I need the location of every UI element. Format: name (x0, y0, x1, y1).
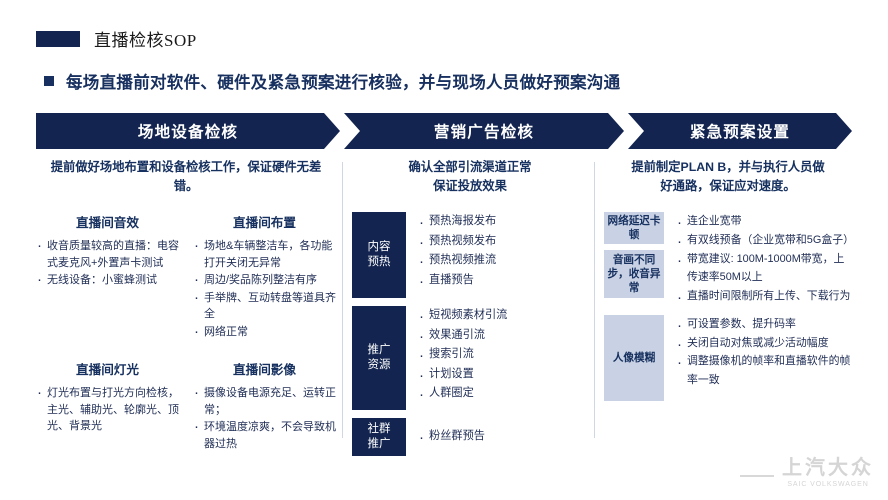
column-marketing-ads: 确认全部引流渠道正常 保证投放效果 内容 预热 预热海报发布 预热视频发布 预热… (352, 158, 588, 458)
content-columns: 提前做好场地布置和设备检核工作，保证硬件无差错。 直播间音效 收音质量较高的直播… (36, 158, 852, 458)
logo-rule (740, 475, 774, 477)
list-item: 效果通引流 (418, 326, 588, 346)
list-item: 预热视频推流 (418, 251, 588, 271)
list-item: 粉丝群预告 (418, 427, 485, 447)
block-live-setup-head: 直播间布置 (193, 212, 336, 231)
kicker-label: 直播检核SOP (94, 26, 197, 51)
group-network-issues: 网络延迟卡顿 音画不同步，收音异常 连企业宽带 有双线预备（企业宽带和5G盒子）… (604, 212, 852, 306)
block-live-setup: 直播间布置 场地&车辆整洁车，各功能打开关闭无异常 周边/奖品陈列整洁有序 手举… (193, 212, 336, 341)
list-item: 直播预告 (418, 271, 588, 291)
block-live-setup-list: 场地&车辆整洁车，各功能打开关闭无异常 周边/奖品陈列整洁有序 手举牌、互动转盘… (193, 238, 336, 340)
group-blurry-portrait-labels: 人像模糊 (604, 315, 664, 401)
block-live-video-head: 直播间影像 (193, 359, 336, 378)
group-content-warmup-label: 内容 预热 (352, 212, 406, 298)
column-3-lead-line-2: 好通路，保证应对速度。 (608, 177, 848, 196)
group-promotion-resources-label: 推广 资源 (352, 306, 406, 410)
logo-text: 上汽大众 SAIC VOLKSWAGEN (782, 458, 874, 488)
column-divider-2 (594, 162, 595, 438)
column-1-lead: 提前做好场地布置和设备检核工作，保证硬件无差错。 (36, 158, 336, 196)
list-item: 关闭自动对焦或减少活动幅度 (676, 334, 852, 353)
list-item: 周边/奖品陈列整洁有序 (193, 272, 336, 289)
group-promotion-resources-label-line-1: 推广 (368, 343, 391, 358)
column-1-row-1: 直播间音效 收音质量较高的直播：电容式麦克风+外置声卡测试 无线设备：小蜜蜂测试… (36, 212, 336, 341)
group-blurry-portrait-list: 可设置参数、提升码率 关闭自动对焦或减少活动幅度 调整摄像机的帧率和直播软件的帧… (664, 315, 852, 401)
list-item: 收音质量较高的直播：电容式麦克风+外置声卡测试 (36, 238, 179, 271)
list-item: 可设置参数、提升码率 (676, 315, 852, 334)
bullet-square-icon (44, 76, 54, 86)
list-item: 计划设置 (418, 365, 588, 385)
list-item: 人群圈定 (418, 384, 588, 404)
block-live-lighting: 直播间灯光 灯光布置与打光方向检核，主光、辅助光、轮廓光、顶光、背景光 (36, 359, 179, 453)
group-community-promotion-label-line-1: 社群 (368, 422, 391, 437)
chevron-step-3-label: 紧急预案设置 (690, 120, 790, 142)
column-3-lead-line-1: 提前制定PLAN B，并与执行人员做 (608, 158, 848, 177)
list-item: 带宽建议: 100M-1000M带宽，上传速率50M以上 (676, 250, 852, 288)
list-item: 有双线预备（企业宽带和5G盒子） (676, 231, 852, 250)
column-emergency-plan: 提前制定PLAN B，并与执行人员做 好通路，保证应对速度。 网络延迟卡顿 音画… (604, 158, 852, 458)
group-promotion-resources: 推广 资源 短视频素材引流 效果通引流 搜索引流 计划设置 人群圈定 (352, 306, 588, 410)
group-community-promotion: 社群 推广 粉丝群预告 (352, 418, 588, 456)
group-community-promotion-label-line-2: 推广 (368, 437, 391, 452)
chevron-step-2[interactable]: 营销广告检核 (344, 113, 624, 149)
list-item: 搜索引流 (418, 345, 588, 365)
list-item: 连企业宽带 (676, 212, 852, 231)
list-item: 短视频素材引流 (418, 306, 588, 326)
kicker-accent-bar (36, 31, 80, 47)
list-item: 场地&车辆整洁车，各功能打开关闭无异常 (193, 238, 336, 271)
chevron-step-1-label: 场地设备检核 (138, 120, 238, 142)
block-live-audio-head: 直播间音效 (36, 212, 179, 231)
block-live-video-list: 摄像设备电源充足、运转正常； 环境温度凉爽，不会导致机器过热 (193, 385, 336, 452)
group-content-warmup-label-line-2: 预热 (368, 255, 391, 270)
process-chevron-banner: 场地设备检核 营销广告检核 紧急预案设置 (36, 113, 852, 149)
page-title-text: 每场直播前对软件、硬件及紧急预案进行核验，并与现场人员做好预案沟通 (66, 69, 620, 93)
group-content-warmup-list: 预热海报发布 预热视频发布 预热视频推流 直播预告 (406, 212, 588, 298)
chevron-step-2-label: 营销广告检核 (434, 120, 534, 142)
column-3-lead: 提前制定PLAN B，并与执行人员做 好通路，保证应对速度。 (604, 158, 852, 196)
slide-root: 直播检核SOP 每场直播前对软件、硬件及紧急预案进行核验，并与现场人员做好预案沟… (0, 0, 888, 500)
list-item: 手举牌、互动转盘等道具齐全 (193, 290, 336, 323)
block-live-audio: 直播间音效 收音质量较高的直播：电容式麦克风+外置声卡测试 无线设备：小蜜蜂测试 (36, 212, 179, 341)
list-item: 灯光布置与打光方向检核，主光、辅助光、轮廓光、顶光、背景光 (36, 385, 179, 435)
column-2-lead-line-1: 确认全部引流渠道正常 (358, 158, 582, 177)
logo-english-name: SAIC VOLKSWAGEN (787, 481, 868, 488)
group-promotion-resources-label-line-2: 资源 (368, 358, 391, 373)
list-item: 调整摄像机的帧率和直播软件的帧率一致 (676, 352, 852, 390)
page-title: 每场直播前对软件、硬件及紧急预案进行核验，并与现场人员做好预案沟通 (44, 69, 620, 93)
slide-kicker: 直播检核SOP (36, 26, 197, 51)
label-portrait-blur: 人像模糊 (604, 315, 664, 401)
group-network-issues-list: 连企业宽带 有双线预备（企业宽带和5G盒子） 带宽建议: 100M-1000M带… (664, 212, 852, 306)
list-item: 无线设备：小蜜蜂测试 (36, 272, 179, 289)
block-live-lighting-list: 灯光布置与打光方向检核，主光、辅助光、轮廓光、顶光、背景光 (36, 385, 179, 435)
chevron-step-1[interactable]: 场地设备检核 (36, 113, 340, 149)
group-promotion-resources-list: 短视频素材引流 效果通引流 搜索引流 计划设置 人群圈定 (406, 306, 588, 410)
label-av-desync: 音画不同步，收音异常 (604, 250, 664, 298)
label-network-latency: 网络延迟卡顿 (604, 212, 664, 244)
list-item: 环境温度凉爽，不会导致机器过热 (193, 419, 336, 452)
column-divider-1 (342, 162, 343, 438)
column-1-row-2: 直播间灯光 灯光布置与打光方向检核，主光、辅助光、轮廓光、顶光、背景光 直播间影… (36, 359, 336, 453)
column-2-lead-line-2: 保证投放效果 (358, 177, 582, 196)
block-live-lighting-head: 直播间灯光 (36, 359, 179, 378)
block-live-audio-list: 收音质量较高的直播：电容式麦克风+外置声卡测试 无线设备：小蜜蜂测试 (36, 238, 179, 289)
list-item: 摄像设备电源充足、运转正常； (193, 385, 336, 418)
block-live-video: 直播间影像 摄像设备电源充足、运转正常； 环境温度凉爽，不会导致机器过热 (193, 359, 336, 453)
column-venue-equipment: 提前做好场地布置和设备检核工作，保证硬件无差错。 直播间音效 收音质量较高的直播… (36, 158, 336, 458)
group-blurry-portrait: 人像模糊 可设置参数、提升码率 关闭自动对焦或减少活动幅度 调整摄像机的帧率和直… (604, 315, 852, 401)
group-content-warmup: 内容 预热 预热海报发布 预热视频发布 预热视频推流 直播预告 (352, 212, 588, 298)
group-community-promotion-label: 社群 推广 (352, 418, 406, 456)
column-2-lead: 确认全部引流渠道正常 保证投放效果 (352, 158, 588, 196)
logo-chinese-name: 上汽大众 (782, 458, 874, 478)
brand-logo: 上汽大众 SAIC VOLKSWAGEN (740, 458, 874, 488)
group-content-warmup-label-line-1: 内容 (368, 240, 391, 255)
list-item: 直播时间限制所有上传、下载行为 (676, 287, 852, 306)
group-network-issues-labels: 网络延迟卡顿 音画不同步，收音异常 (604, 212, 664, 306)
list-item: 预热海报发布 (418, 212, 588, 232)
group-community-promotion-list: 粉丝群预告 (406, 418, 588, 456)
chevron-step-3[interactable]: 紧急预案设置 (628, 113, 852, 149)
list-item: 网络正常 (193, 324, 336, 341)
list-item: 预热视频发布 (418, 232, 588, 252)
